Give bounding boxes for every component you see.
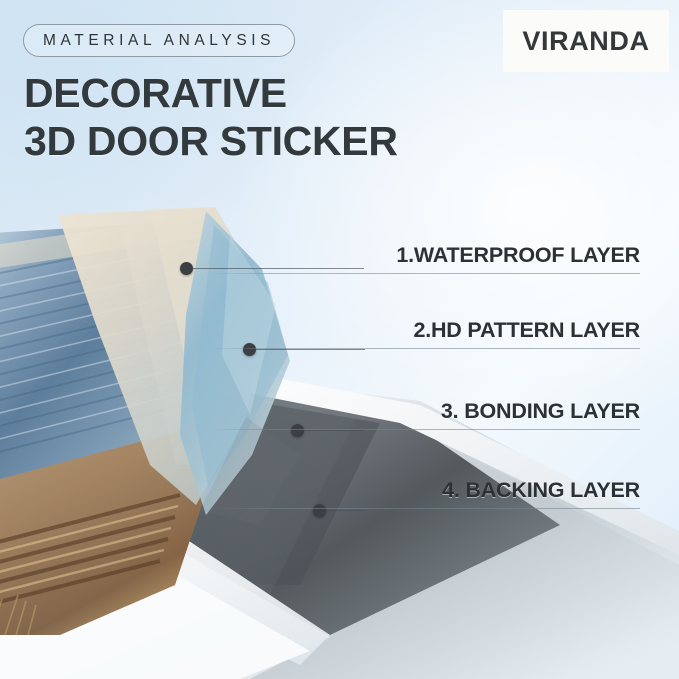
infographic-canvas: MATERIAL ANALYSIS DECORATIVE 3D DOOR STI…: [0, 0, 679, 679]
layer-label-1: 1.WATERPROOF LAYER: [210, 243, 640, 268]
layer-callout-1: 1.WATERPROOF LAYER: [210, 243, 640, 274]
brand-name: VIRANDA: [522, 26, 649, 57]
leader-line-4: [325, 510, 367, 511]
leader-line-2: [255, 349, 365, 350]
layer-rule-2: [210, 348, 640, 349]
title-line-1: DECORATIVE: [24, 70, 287, 116]
layer-callout-2: 2.HD PATTERN LAYER: [210, 318, 640, 349]
marker-dot-1: [180, 262, 193, 275]
layer-callout-4: 4. BACKING LAYER: [210, 478, 640, 509]
layer-callout-3: 3. BONDING LAYER: [210, 399, 640, 430]
layer-rule-1: [210, 273, 640, 274]
badge-label: MATERIAL ANALYSIS: [43, 32, 275, 50]
page-title: DECORATIVE 3D DOOR STICKER: [24, 70, 398, 165]
leader-line-3: [303, 430, 365, 431]
brand-logo: VIRANDA: [503, 10, 669, 72]
layer-label-3: 3. BONDING LAYER: [210, 399, 640, 424]
layer-label-2: 2.HD PATTERN LAYER: [210, 318, 640, 343]
title-line-2: 3D DOOR STICKER: [24, 118, 398, 166]
layer-label-4: 4. BACKING LAYER: [210, 478, 640, 503]
badge-material-analysis: MATERIAL ANALYSIS: [23, 24, 295, 57]
layer-rule-4: [210, 508, 640, 509]
layer-rule-3: [210, 429, 640, 430]
